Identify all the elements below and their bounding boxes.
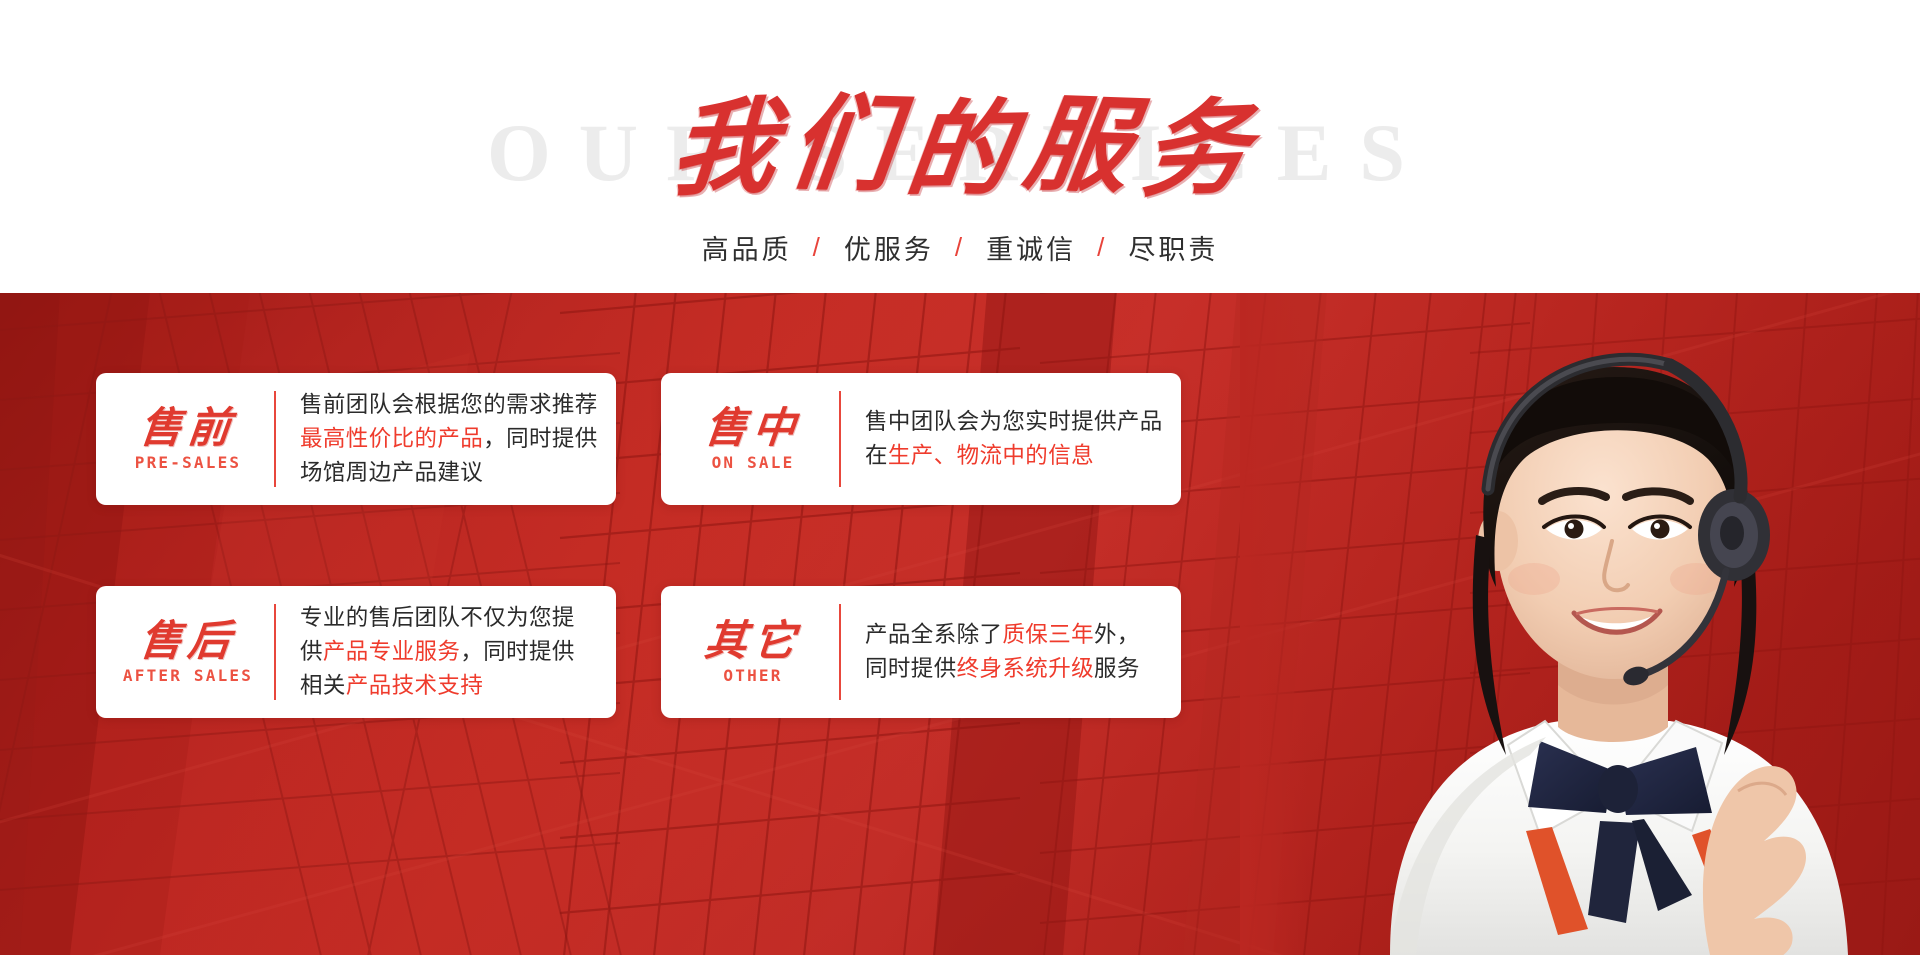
- tagline-separator: /: [804, 232, 832, 263]
- highlight-text: 生产、物流中的信息: [888, 443, 1094, 468]
- title-char-2: 的: [901, 97, 1018, 203]
- badge-label-cn: 售中: [703, 407, 803, 449]
- card-description-line: 最高性价比的产品，同时提供: [300, 422, 602, 456]
- card-description-line: 售前团队会根据您的需求推荐: [300, 388, 602, 422]
- card-description-line: 场馆周边产品建议: [300, 456, 602, 490]
- card-description-line: 同时提供终身系统升级服务: [865, 652, 1167, 686]
- card-description-line: 相关产品技术支持: [300, 669, 602, 703]
- badge-label-en: OTHER: [723, 668, 782, 684]
- plain-text: 外，: [1094, 622, 1140, 647]
- plain-text: ，同时提供: [460, 639, 575, 664]
- badge-label-en: AFTER SALES: [123, 668, 253, 684]
- page-title: 我们的服务: [672, 96, 1248, 200]
- badge-label-cn: 售前: [138, 407, 238, 449]
- card-badge: 售后AFTER SALES: [96, 620, 274, 684]
- highlight-text: 产品专业服务: [323, 639, 460, 664]
- service-card-other[interactable]: 其它OTHER产品全系除了质保三年外，同时提供终身系统升级服务: [661, 586, 1181, 718]
- plain-text: 相关: [300, 673, 346, 698]
- card-description-line: 供产品专业服务，同时提供: [300, 635, 602, 669]
- service-card-after-sales[interactable]: 售后AFTER SALES专业的售后团队不仅为您提供产品专业服务，同时提供相关产…: [96, 586, 616, 718]
- title-char-1: 们: [785, 91, 901, 198]
- badge-label-cn: 其它: [703, 620, 803, 662]
- card-description: 专业的售后团队不仅为您提供产品专业服务，同时提供相关产品技术支持: [276, 601, 616, 704]
- title-char-3: 服: [1019, 91, 1137, 199]
- badge-label-cn: 售后: [138, 620, 238, 662]
- card-description-line: 售中团队会为您实时提供产品: [865, 405, 1167, 439]
- plain-text: 售前团队会根据您的需求推荐: [300, 392, 598, 417]
- plain-text: 专业的售后团队不仅为您提: [300, 605, 575, 630]
- plain-text: 供: [300, 639, 323, 664]
- highlight-text: 终身系统升级: [957, 656, 1094, 681]
- card-description-line: 在生产、物流中的信息: [865, 439, 1167, 473]
- service-cards-grid: 售前PRE-SALES售前团队会根据您的需求推荐最高性价比的产品，同时提供场馆周…: [96, 373, 1181, 903]
- tagline-separator: /: [1088, 232, 1116, 263]
- plain-text: 产品全系除了: [865, 622, 1002, 647]
- tagline-separator: /: [946, 232, 974, 263]
- tagline-item-1: 优服务: [832, 228, 946, 267]
- tagline-item-0: 高品质: [690, 228, 804, 267]
- card-description: 售中团队会为您实时提供产品在生产、物流中的信息: [841, 405, 1181, 473]
- plain-text: 场馆周边产品建议: [300, 460, 483, 485]
- badge-label-en: ON SALE: [712, 455, 795, 471]
- highlight-text: 质保三年: [1002, 622, 1094, 647]
- card-description-line: 产品全系除了质保三年外，: [865, 618, 1167, 652]
- highlight-text: 最高性价比的产品: [300, 426, 483, 451]
- card-description-line: 专业的售后团队不仅为您提: [300, 601, 602, 635]
- tagline-item-2: 重诚信: [974, 228, 1088, 267]
- service-card-pre-sales[interactable]: 售前PRE-SALES售前团队会根据您的需求推荐最高性价比的产品，同时提供场馆周…: [96, 373, 616, 505]
- service-card-on-sale[interactable]: 售中ON SALE售中团队会为您实时提供产品在生产、物流中的信息: [661, 373, 1181, 505]
- plain-text: 服务: [1094, 656, 1140, 681]
- card-badge: 售中ON SALE: [661, 407, 839, 471]
- title-char-0: 我: [667, 94, 781, 202]
- highlight-text: 产品技术支持: [346, 673, 483, 698]
- card-description: 产品全系除了质保三年外，同时提供终身系统升级服务: [841, 618, 1181, 686]
- tagline-item-3: 尽职责: [1116, 228, 1230, 267]
- card-badge: 其它OTHER: [661, 620, 839, 684]
- plain-text: 在: [865, 443, 888, 468]
- plain-text: ，同时提供: [483, 426, 598, 451]
- services-stage: 售前PRE-SALES售前团队会根据您的需求推荐最高性价比的产品，同时提供场馆周…: [0, 293, 1920, 955]
- plain-text: 同时提供: [865, 656, 957, 681]
- badge-label-en: PRE-SALES: [135, 455, 242, 471]
- card-description: 售前团队会根据您的需求推荐最高性价比的产品，同时提供场馆周边产品建议: [276, 388, 616, 491]
- card-badge: 售前PRE-SALES: [96, 407, 274, 471]
- tagline: 高品质/优服务/重诚信/尽职责: [690, 228, 1231, 267]
- title-char-4: 务: [1138, 95, 1255, 203]
- plain-text: 售中团队会为您实时提供产品: [865, 409, 1163, 434]
- page-header: OUR SERVICES 我们的服务 高品质/优服务/重诚信/尽职责: [0, 0, 1920, 293]
